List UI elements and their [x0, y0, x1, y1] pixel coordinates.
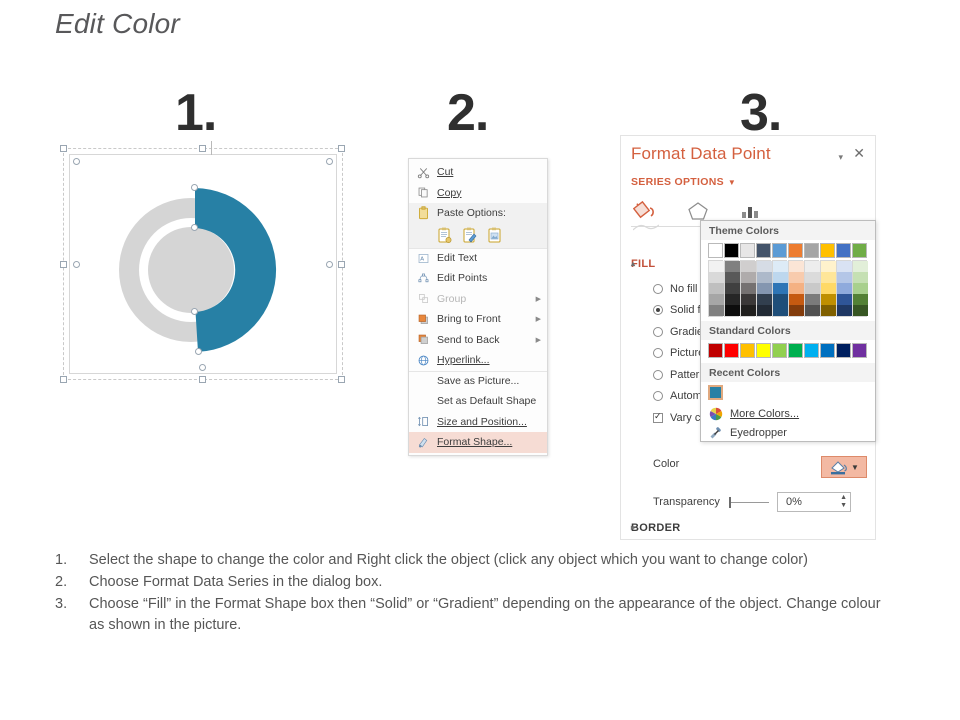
menu-item-save-as-picture-label: Save as Picture...: [437, 375, 547, 387]
fill-option-pattern-fill[interactable]: Pattern: [653, 364, 706, 386]
standard-color-swatch-8[interactable]: [836, 343, 851, 358]
standard-colors-row: [701, 340, 875, 363]
theme-color-swatch-0[interactable]: [708, 243, 723, 258]
none-icon: [413, 373, 433, 389]
theme-shade-swatch-2-2[interactable]: [741, 283, 756, 294]
menu-item-set-as-default-shape[interactable]: Set as Default Shape: [409, 391, 547, 412]
fill-options-group: No fill Solid fi Gradie Picture Pattern …: [653, 278, 706, 429]
menu-item-hyperlink[interactable]: Hyperlink...: [409, 350, 547, 371]
standard-color-swatch-0[interactable]: [708, 343, 723, 358]
menu-item-bring-to-front[interactable]: Bring to Front ▶: [409, 309, 547, 330]
theme-color-swatch-3[interactable]: [756, 243, 771, 258]
selection-handle-top-left[interactable]: [60, 145, 67, 152]
instruction-text-2: Choose Format Data Series in the dialog …: [89, 572, 885, 593]
radio-picture-fill[interactable]: [653, 348, 663, 358]
eyedropper-label: Eyedropper: [730, 427, 787, 439]
expand-triangle-icon: ▴: [631, 259, 635, 268]
theme-shade-swatch-4-0[interactable]: [773, 261, 788, 272]
theme-shade-swatch-5-1[interactable]: [789, 272, 804, 283]
menu-item-send-to-back[interactable]: Send to Back ▶: [409, 330, 547, 351]
instruction-number-3: 3.: [55, 594, 89, 636]
menu-item-hyperlink-label: Hyperlink...: [437, 354, 547, 366]
selection-handle-top-center[interactable]: [199, 145, 206, 152]
menu-item-set-as-default-shape-label: Set as Default Shape: [437, 395, 547, 407]
standard-color-swatch-3[interactable]: [756, 343, 771, 358]
selection-handle-bottom-right[interactable]: [338, 376, 345, 383]
instruction-text-3: Choose “Fill” in the Format Shape box th…: [89, 594, 885, 636]
donut-inner-disc: [148, 227, 234, 313]
recent-color-swatch-0[interactable]: [708, 385, 723, 400]
fill-option-automatic[interactable]: Autom: [653, 386, 706, 408]
theme-shade-swatch-6-4[interactable]: [805, 305, 820, 316]
theme-color-swatch-4[interactable]: [772, 243, 787, 258]
datapoint-handle-bottom-outer[interactable]: [195, 348, 202, 355]
standard-color-swatch-5[interactable]: [788, 343, 803, 358]
theme-shade-swatch-0-1[interactable]: [709, 272, 724, 283]
theme-shade-swatch-9-4[interactable]: [853, 305, 868, 316]
theme-shade-swatch-8-1[interactable]: [837, 272, 852, 283]
none-icon: [413, 393, 433, 409]
theme-shade-column-5: [788, 260, 803, 317]
radio-no-fill[interactable]: [653, 284, 663, 294]
selection-handle-bottom-center[interactable]: [199, 376, 206, 383]
fill-option-no-fill-label: No fill: [670, 283, 698, 295]
fill-section-header[interactable]: ▴ FILL: [631, 258, 655, 270]
format-pane-title: Format Data Point: [631, 144, 771, 164]
menu-item-format-shape-label: Format Shape...: [437, 436, 547, 448]
instruction-text-1: Select the shape to change the color and…: [89, 550, 885, 571]
bring-to-front-icon: [413, 311, 433, 327]
paste-use-destination-theme-icon[interactable]: [462, 227, 478, 244]
theme-shade-swatch-1-3[interactable]: [725, 294, 740, 305]
theme-shade-swatch-7-1[interactable]: [821, 272, 836, 283]
theme-shade-column-9: [852, 260, 867, 317]
collapse-triangle-icon: ▸: [631, 523, 635, 532]
datapoint-handle-bottom-inner[interactable]: [191, 308, 198, 315]
spinner-up-icon[interactable]: ▲: [840, 494, 847, 502]
panel-selected-shape: [55, 140, 355, 395]
radio-solid-fill[interactable]: [653, 305, 663, 315]
theme-shade-column-3: [756, 260, 771, 317]
hyperlink-icon: [413, 352, 433, 368]
theme-shade-swatch-6-3[interactable]: [805, 294, 820, 305]
paste-keep-source-formatting-icon[interactable]: [437, 227, 453, 244]
theme-shade-swatch-2-0[interactable]: [741, 261, 756, 272]
theme-color-swatch-1[interactable]: [724, 243, 739, 258]
menu-item-cut-label: Cut: [437, 166, 547, 178]
theme-shade-swatch-4-1[interactable]: [773, 272, 788, 283]
theme-shade-swatch-5-4[interactable]: [789, 305, 804, 316]
instruction-number-1: 1.: [55, 550, 89, 571]
menu-item-save-as-picture[interactable]: Save as Picture...: [409, 371, 547, 392]
theme-shade-swatch-2-4[interactable]: [741, 305, 756, 316]
radio-gradient-fill[interactable]: [653, 327, 663, 337]
theme-shade-swatch-6-1[interactable]: [805, 272, 820, 283]
transparency-label: Transparency: [653, 496, 725, 508]
theme-color-swatch-7[interactable]: [820, 243, 835, 258]
theme-color-swatch-9[interactable]: [852, 243, 867, 258]
theme-shade-swatch-5-3[interactable]: [789, 294, 804, 305]
more-colors-label: More Colors...: [730, 408, 799, 420]
theme-shade-swatch-3-1[interactable]: [757, 272, 772, 283]
chevron-right-icon: ▶: [536, 315, 541, 323]
theme-shade-swatch-8-4[interactable]: [837, 305, 852, 316]
format-shape-icon: [413, 434, 433, 450]
step-number-2: 2.: [447, 83, 488, 143]
theme-shade-column-8: [836, 260, 851, 317]
close-icon[interactable]: ✕: [853, 146, 865, 160]
size-position-icon: [413, 414, 433, 430]
copy-icon: [413, 185, 433, 201]
border-section-header[interactable]: ▸ BORDER: [631, 522, 680, 534]
vary-colors-checkbox-row[interactable]: Vary co: [653, 407, 706, 429]
color-row: Color ▼: [653, 458, 713, 470]
theme-colors-shade-grid: [701, 260, 875, 321]
theme-shade-swatch-1-2[interactable]: [725, 283, 740, 294]
theme-shade-swatch-4-2[interactable]: [773, 283, 788, 294]
transparency-spinner[interactable]: 0% ▲ ▼: [777, 492, 851, 512]
edit-points-icon: [413, 270, 433, 286]
menu-item-edit-points-label: Edit Points: [437, 272, 547, 284]
step-number-3: 3.: [740, 83, 781, 143]
datapoint-handle-top-outer[interactable]: [191, 184, 198, 191]
recent-colors-title: Recent Colors: [701, 363, 875, 382]
slider-thumb[interactable]: [729, 497, 731, 508]
theme-shade-column-4: [772, 260, 787, 317]
color-picker-flyout[interactable]: Theme Colors Standard Colors Recent Colo…: [700, 220, 876, 442]
datapoint-handle-top-inner[interactable]: [191, 224, 198, 231]
theme-color-swatch-8[interactable]: [836, 243, 851, 258]
menu-item-copy-label: Copy: [437, 187, 547, 199]
theme-shade-swatch-0-4[interactable]: [709, 305, 724, 316]
theme-shade-swatch-7-2[interactable]: [821, 283, 836, 294]
theme-shade-swatch-7-3[interactable]: [821, 294, 836, 305]
instruction-item-1: 1. Select the shape to change the color …: [55, 550, 885, 571]
standard-colors-title: Standard Colors: [701, 321, 875, 340]
edit-text-icon: A: [413, 250, 433, 266]
theme-shade-swatch-9-2[interactable]: [853, 283, 868, 294]
chevron-down-icon: ▼: [851, 463, 859, 472]
group-icon: [413, 291, 433, 307]
context-menu[interactable]: Cut Copy Paste Options:: [408, 158, 548, 456]
theme-shade-swatch-5-2[interactable]: [789, 283, 804, 294]
paint-bucket-icon: [633, 199, 659, 223]
border-section-label: BORDER: [631, 522, 680, 534]
inner-handle-middle-left[interactable]: [73, 261, 80, 268]
more-colors-action[interactable]: More Colors...: [701, 404, 875, 423]
menu-item-edit-text-label: Edit Text: [437, 252, 547, 264]
chevron-down-icon[interactable]: ▾: [838, 152, 843, 163]
transparency-slider[interactable]: [725, 496, 771, 508]
theme-shade-swatch-2-3[interactable]: [741, 294, 756, 305]
fill-option-solid-fill[interactable]: Solid fi: [653, 300, 706, 322]
theme-shade-swatch-0-3[interactable]: [709, 294, 724, 305]
spinner-down-icon[interactable]: ▼: [840, 502, 847, 510]
donut-chart[interactable]: [95, 170, 295, 370]
theme-shade-swatch-0-0[interactable]: [709, 261, 724, 272]
color-picker-button[interactable]: ▼: [821, 456, 867, 478]
paint-bucket-icon: [829, 459, 849, 475]
menu-item-edit-text[interactable]: A Edit Text: [409, 248, 547, 269]
theme-shade-swatch-9-0[interactable]: [853, 261, 868, 272]
transparency-row: Transparency 0% ▲ ▼: [653, 492, 851, 512]
theme-shade-swatch-4-4[interactable]: [773, 305, 788, 316]
selection-handle-middle-left[interactable]: [60, 261, 67, 268]
standard-color-swatch-2[interactable]: [740, 343, 755, 358]
rotate-handle-stem: [211, 141, 212, 155]
theme-shade-swatch-3-3[interactable]: [757, 294, 772, 305]
theme-shade-swatch-3-0[interactable]: [757, 261, 772, 272]
menu-item-paste-options-label: Paste Options:: [437, 207, 547, 219]
spinner-arrows[interactable]: ▲ ▼: [840, 494, 847, 510]
standard-color-swatch-1[interactable]: [724, 343, 739, 358]
theme-color-swatch-5[interactable]: [788, 243, 803, 258]
theme-shade-swatch-1-0[interactable]: [725, 261, 740, 272]
step-number-1: 1.: [175, 83, 216, 143]
menu-item-group-label: Group: [437, 293, 536, 305]
inner-handle-middle-right[interactable]: [326, 261, 333, 268]
theme-shade-swatch-6-2[interactable]: [805, 283, 820, 294]
theme-shade-column-1: [724, 260, 739, 317]
theme-shade-swatch-0-2[interactable]: [709, 283, 724, 294]
theme-shade-swatch-8-2[interactable]: [837, 283, 852, 294]
svg-text:A: A: [420, 256, 424, 262]
standard-color-swatch-4[interactable]: [772, 343, 787, 358]
standard-color-swatch-7[interactable]: [820, 343, 835, 358]
page-title: Edit Color: [55, 8, 180, 40]
instruction-item-3: 3. Choose “Fill” in the Format Shape box…: [55, 594, 885, 636]
theme-shade-column-6: [804, 260, 819, 317]
theme-shade-column-7: [820, 260, 835, 317]
series-options-label: SERIES OPTIONS: [631, 176, 724, 188]
theme-shade-swatch-1-4[interactable]: [725, 305, 740, 316]
instruction-number-2: 2.: [55, 572, 89, 593]
theme-shade-swatch-2-1[interactable]: [741, 272, 756, 283]
theme-shade-swatch-6-0[interactable]: [805, 261, 820, 272]
menu-item-group: Group ▶: [409, 289, 547, 310]
clipboard-icon: [413, 205, 433, 221]
fill-option-solid-fill-label: Solid fi: [670, 304, 703, 316]
eyedropper-action[interactable]: Eyedropper: [701, 423, 875, 442]
send-to-back-icon: [413, 332, 433, 348]
theme-shade-swatch-9-1[interactable]: [853, 272, 868, 283]
theme-shade-swatch-3-2[interactable]: [757, 283, 772, 294]
theme-shade-swatch-8-0[interactable]: [837, 261, 852, 272]
color-wheel-icon: [708, 406, 723, 421]
theme-colors-top-row: [701, 240, 875, 260]
selection-handle-middle-right[interactable]: [338, 261, 345, 268]
radio-automatic[interactable]: [653, 391, 663, 401]
menu-item-bring-to-front-label: Bring to Front: [437, 313, 536, 325]
menu-item-size-and-position-label: Size and Position...: [437, 416, 547, 428]
menu-item-format-shape[interactable]: Format Shape...: [409, 432, 547, 453]
theme-colors-title: Theme Colors: [701, 221, 875, 240]
chevron-right-icon: ▶: [536, 295, 541, 303]
menu-item-edit-points[interactable]: Edit Points: [409, 268, 547, 289]
theme-color-swatch-2[interactable]: [740, 243, 755, 258]
checkbox-vary-colors[interactable]: [653, 413, 663, 423]
standard-color-swatch-9[interactable]: [852, 343, 867, 358]
color-label: Color: [653, 458, 713, 470]
instructions-list: 1. Select the shape to change the color …: [55, 550, 885, 637]
theme-shade-swatch-8-3[interactable]: [837, 294, 852, 305]
theme-shade-swatch-9-3[interactable]: [853, 294, 868, 305]
theme-shade-swatch-3-4[interactable]: [757, 305, 772, 316]
chevron-down-icon: ▼: [728, 178, 736, 187]
standard-color-swatch-6[interactable]: [804, 343, 819, 358]
theme-shade-swatch-4-3[interactable]: [773, 294, 788, 305]
menu-item-paste-options[interactable]: Paste Options:: [409, 203, 547, 224]
selection-handle-top-right[interactable]: [338, 145, 345, 152]
paste-picture-icon[interactable]: [487, 227, 503, 244]
menu-item-send-to-back-label: Send to Back: [437, 334, 536, 346]
theme-shade-column-2: [740, 260, 755, 317]
fill-option-no-fill[interactable]: No fill: [653, 278, 706, 300]
fill-option-gradient-fill-label: Gradie: [670, 326, 703, 338]
paste-options-row: [409, 224, 547, 248]
fill-option-picture-fill[interactable]: Picture: [653, 343, 706, 365]
scissors-icon: [413, 164, 433, 180]
eyedropper-icon: [708, 425, 723, 440]
slider-track: [731, 502, 769, 503]
inner-handle-top-left[interactable]: [73, 158, 80, 165]
donut-chart-svg: [95, 170, 295, 370]
radio-pattern-fill[interactable]: [653, 370, 663, 380]
menu-item-copy[interactable]: Copy: [409, 183, 547, 204]
tab-selected-indicator: [633, 222, 659, 230]
theme-shade-swatch-7-4[interactable]: [821, 305, 836, 316]
theme-shade-swatch-5-0[interactable]: [789, 261, 804, 272]
fill-option-gradient-fill[interactable]: Gradie: [653, 321, 706, 343]
recent-colors-row: [701, 382, 875, 404]
theme-color-swatch-6[interactable]: [804, 243, 819, 258]
theme-shade-swatch-7-0[interactable]: [821, 261, 836, 272]
instruction-item-2: 2. Choose Format Data Series in the dial…: [55, 572, 885, 593]
transparency-value: 0%: [778, 496, 802, 508]
tab-fill-and-line[interactable]: [631, 198, 661, 224]
fill-option-automatic-label: Autom: [670, 390, 702, 402]
series-options-dropdown[interactable]: SERIES OPTIONS▼: [631, 176, 736, 188]
menu-item-cut[interactable]: Cut: [409, 162, 547, 183]
theme-shade-column-0: [708, 260, 723, 317]
selection-handle-bottom-left[interactable]: [60, 376, 67, 383]
inner-handle-top-right[interactable]: [326, 158, 333, 165]
theme-shade-swatch-1-1[interactable]: [725, 272, 740, 283]
menu-item-size-and-position[interactable]: Size and Position...: [409, 412, 547, 433]
chevron-right-icon: ▶: [536, 336, 541, 344]
